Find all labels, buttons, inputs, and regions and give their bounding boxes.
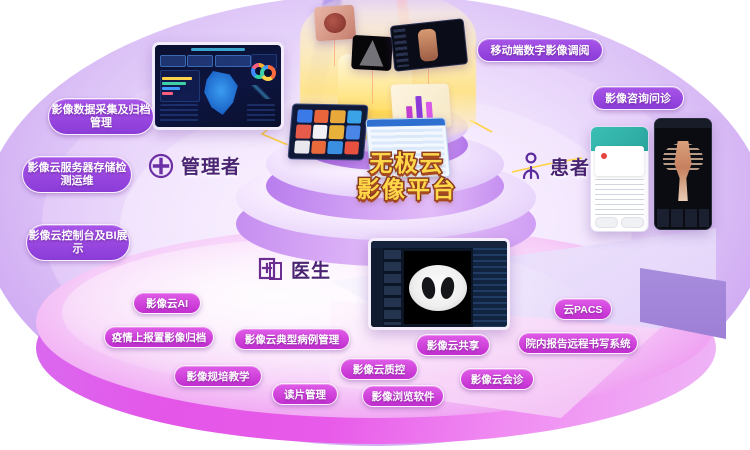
feature-pill-bottom-9[interactable]: 影像云会诊: [460, 368, 534, 390]
pill-label: 影像云质控: [353, 362, 406, 377]
feature-pill-bottom-1[interactable]: 影像云AI: [133, 292, 201, 314]
pill-label: 影像咨询问诊: [605, 90, 671, 106]
feature-pill-bottom-6[interactable]: 读片管理: [272, 383, 338, 405]
title-line-1: 无极云: [327, 150, 487, 176]
feature-pill-bottom-5[interactable]: 影像云质控: [340, 358, 418, 380]
circle-plus-icon: [148, 153, 174, 179]
pill-label: 影像浏览软件: [372, 389, 435, 404]
floating-ultrasound-image: [351, 35, 393, 71]
person-icon: [519, 152, 543, 180]
bi-dashboard-screen: [152, 42, 284, 130]
infographic-canvas: 无极云 影像平台 管理者 患者 医生 影像数据采集及归档管理 影像云服务器存储检…: [0, 0, 750, 450]
feature-pill-bottom-3[interactable]: 影像云典型病例管理: [234, 328, 350, 350]
role-doctor[interactable]: 医生: [258, 256, 331, 283]
ct-viewer-screen: [368, 238, 510, 330]
screen-stem: [372, 70, 373, 104]
feature-pill-right-1[interactable]: 移动端数字影像调阅: [477, 38, 603, 62]
pill-label: 影像云控制台及BI展示: [27, 230, 129, 256]
pill-label: 疫情上报置影像归档: [112, 330, 207, 345]
title-line-2: 影像平台: [327, 176, 487, 202]
pill-label: 云PACS: [564, 302, 603, 317]
pill-label: 影像云共享: [427, 338, 480, 353]
role-patient[interactable]: 患者: [519, 152, 590, 180]
floating-endoscopy-image: [314, 5, 356, 42]
role-label-patient: 患者: [550, 153, 590, 180]
feature-pill-left-3[interactable]: 影像云控制台及BI展示: [26, 224, 130, 261]
feature-pill-bottom-2[interactable]: 疫情上报置影像归档: [104, 326, 214, 348]
pill-label: 影像数据采集及归档管理: [49, 104, 153, 130]
role-label-administrator: 管理者: [181, 152, 241, 179]
feature-pill-bottom-4[interactable]: 影像规培教学: [174, 365, 262, 387]
pill-label: 读片管理: [284, 387, 326, 402]
pill-label: 院内报告远程书写系统: [526, 336, 631, 351]
role-administrator[interactable]: 管理者: [148, 152, 241, 179]
phone-consultation-app: [590, 126, 649, 232]
pill-label: 影像云AI: [146, 296, 188, 311]
screen-stem: [334, 40, 335, 66]
floating-3d-render-screen: [390, 18, 468, 71]
role-label-doctor: 医生: [291, 256, 331, 283]
medical-record-icon: [258, 256, 284, 283]
feature-pill-bottom-11[interactable]: 院内报告远程书写系统: [518, 332, 638, 354]
pill-label: 影像云会诊: [471, 372, 524, 387]
pill-label: 影像规培教学: [187, 369, 250, 384]
page-title: 无极云 影像平台: [327, 150, 487, 202]
feature-pill-left-2[interactable]: 影像云服务器存储检测运维: [22, 156, 132, 193]
pill-label: 影像云典型病例管理: [245, 332, 340, 347]
feature-pill-bottom-7[interactable]: 影像浏览软件: [362, 385, 444, 407]
feature-pill-bottom-8[interactable]: 影像云共享: [416, 334, 490, 356]
pill-label: 移动端数字影像调阅: [491, 42, 590, 58]
phone-xray-viewer: [654, 118, 712, 230]
feature-pill-left-1[interactable]: 影像数据采集及归档管理: [48, 98, 154, 135]
pill-label: 影像云服务器存储检测运维: [23, 162, 131, 188]
feature-pill-right-2[interactable]: 影像咨询问诊: [592, 86, 684, 110]
feature-pill-bottom-10[interactable]: 云PACS: [554, 298, 612, 320]
